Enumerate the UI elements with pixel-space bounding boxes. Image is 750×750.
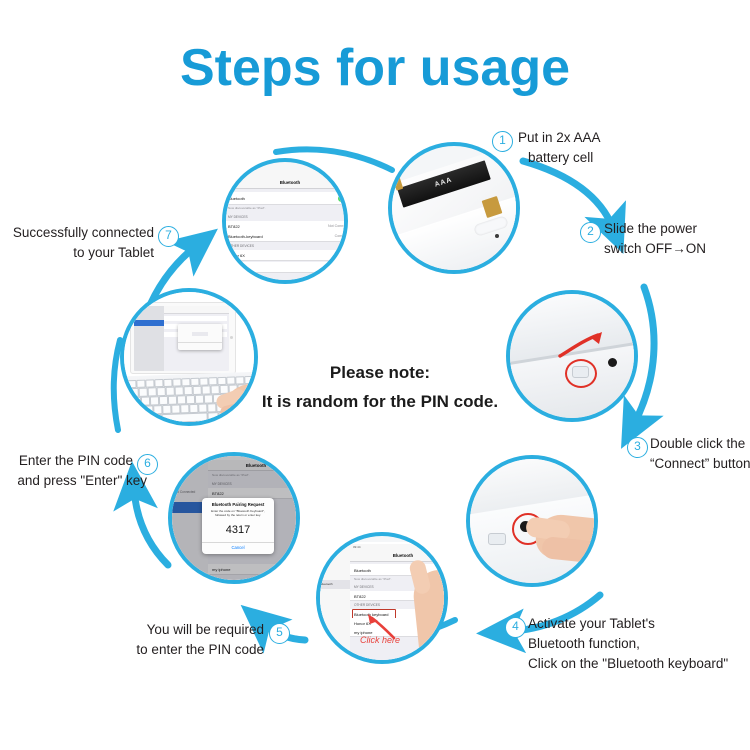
step-3-line-1: Double click the: [650, 434, 750, 454]
photo-bluetooth-connected: 09:44 91% Bluetooth Bluetooth Now discov…: [222, 158, 348, 284]
photo-connect-button: [466, 455, 598, 587]
step-7-line-1: Successfully connected: [6, 223, 154, 243]
step-caption-2: Slide the power switch OFF→ON: [604, 219, 706, 259]
device-status: Not Connected: [328, 224, 348, 228]
step-badge-5: 5: [269, 623, 290, 644]
other-devices-header: OTHER DEVICES: [354, 603, 380, 607]
device-name: BT822: [354, 594, 366, 599]
step-4-line-2: Bluetooth function,: [528, 634, 728, 654]
step-2-line-1: Slide the power: [604, 219, 706, 239]
dialog-title: Bluetooth Pairing Request: [202, 502, 274, 507]
infographic-canvas: Steps for usage: [0, 0, 750, 750]
photo-pairing-request: Not Connected On Bluetooth Now discovera…: [168, 452, 300, 584]
step-caption-1: Put in 2x AAA battery cell: [518, 128, 601, 168]
step-5-line-2: to enter the PIN code: [120, 640, 264, 660]
note-line-2: It is random for the PIN code.: [230, 387, 530, 416]
discoverable-note: Now discoverable as "iPad".: [228, 206, 265, 210]
step-badge-4: 4: [505, 617, 526, 638]
my-devices-header: MY DEVICES: [228, 215, 248, 219]
bluetooth-toggle-label: Bluetooth: [354, 568, 371, 573]
step-6-line-1: Enter the PIN code: [0, 451, 133, 471]
battery-photo: AAA: [392, 146, 516, 270]
dialog-body: Enter the code on "Bluetooth Keyboard", …: [202, 509, 274, 518]
red-arrow-icon: [558, 330, 606, 360]
status-time: 09:44: [353, 545, 361, 549]
step-2-line-2: switch OFF→ON: [604, 239, 706, 259]
note-line-1: Please note:: [230, 358, 530, 387]
device-name: Bluetooth-keyboard: [228, 234, 263, 239]
pairing-dialog: Bluetooth Pairing Request Enter the code…: [202, 498, 274, 554]
step-caption-7: Successfully connected to your Tablet: [6, 223, 154, 263]
other-device-honor[interactable]: Honor 6X: [228, 253, 245, 258]
pin-code: 4317: [202, 524, 274, 536]
step-3-line-2: “Connect” button: [650, 454, 750, 474]
connect-button-photo: [470, 459, 594, 583]
step-badge-7: 7: [158, 226, 179, 247]
status-time: 09:44: [228, 172, 236, 176]
step-1-line-1: Put in 2x AAA: [518, 128, 601, 148]
pairing-request-screen: Not Connected On Bluetooth Now discovera…: [172, 456, 296, 580]
tablet-bluetooth-screen: Settings Bluetooth 09:44 91% Bluetooth B…: [320, 536, 444, 660]
step-badge-2: 2: [580, 222, 601, 243]
center-note: Please note: It is random for the PIN co…: [230, 358, 530, 416]
bluetooth-connected-screen: 09:44 91% Bluetooth Bluetooth Now discov…: [226, 162, 344, 280]
highlight-ring-switch: [565, 359, 597, 388]
step-6-line-2: and press "Enter" key: [0, 471, 147, 491]
step-caption-4: Activate your Tablet's Bluetooth functio…: [528, 614, 728, 674]
photo-tablet-bluetooth-list: Settings Bluetooth 09:44 91% Bluetooth B…: [316, 532, 448, 664]
nav-title: Bluetooth: [224, 180, 348, 185]
discoverable-note: Now discoverable as "iPad".: [354, 577, 391, 581]
step-5-line-1: You will be required: [120, 620, 264, 640]
other-devices-header: OTHER DEVICES: [228, 244, 254, 248]
step-1-line-2: battery cell: [518, 148, 601, 168]
bluetooth-toggle-label: Bluetooth: [228, 196, 245, 201]
device-name: BT822: [228, 224, 240, 229]
my-devices-header: MY DEVICES: [354, 585, 374, 589]
step-4-line-1: Activate your Tablet's: [528, 614, 728, 634]
click-here-annotation: Click here: [360, 635, 400, 645]
nav-title: Bluetooth: [350, 553, 448, 558]
photo-battery-compartment: AAA: [388, 142, 520, 274]
step-4-line-3: Click on the "Bluetooth keyboard": [528, 654, 728, 674]
other-device-iphone[interactable]: iphone: [228, 265, 240, 270]
step-caption-5: You will be required to enter the PIN co…: [120, 620, 264, 660]
step-caption-6: Enter the PIN code and press "Enter" key: [0, 451, 133, 491]
step-badge-3: 3: [627, 437, 648, 458]
step-caption-3: Double click the “Connect” button: [650, 434, 750, 474]
cancel-button[interactable]: Cancel: [202, 545, 274, 550]
step-7-line-2: to your Tablet: [6, 243, 154, 263]
step-badge-1: 1: [492, 131, 513, 152]
